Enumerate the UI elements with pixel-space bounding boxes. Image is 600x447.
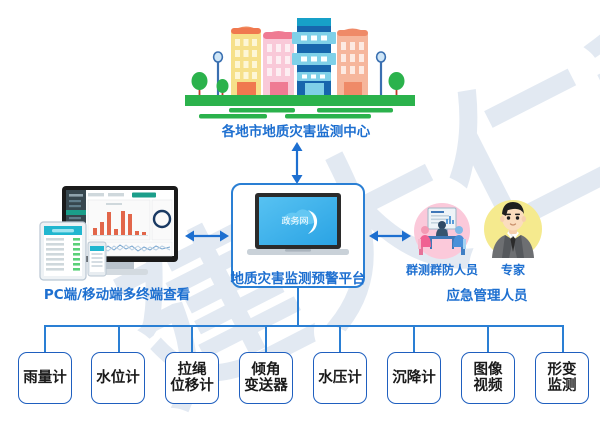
arrow-terminals-platform (185, 229, 229, 243)
monitor-tablet-phone-icon (40, 186, 185, 281)
device-box-1[interactable]: 雨量计 (18, 352, 72, 404)
device-box-4[interactable]: 倾角 变送器 (239, 352, 293, 404)
device-box-2[interactable]: 水位计 (91, 352, 145, 404)
device-box-7[interactable]: 图像 视频 (461, 352, 515, 404)
connector-drop-2 (118, 325, 120, 352)
arrow-city-platform (290, 142, 304, 184)
connector-drop-3 (191, 325, 193, 352)
connector-drop-1 (44, 325, 46, 352)
connector-drop-6 (413, 325, 415, 352)
device-box-8[interactable]: 形变 监测 (535, 352, 589, 404)
device-box-6[interactable]: 沉降计 (387, 352, 441, 404)
connector-drop-7 (487, 325, 489, 352)
expert-person-icon (484, 200, 542, 258)
device-box-5[interactable]: 水压计 (313, 352, 367, 404)
city-center-label: 各地市地质灾害监测中心 (222, 120, 371, 140)
connector-drop-8 (562, 325, 564, 352)
laptop-icon: 政务网 (247, 193, 349, 261)
connector-drop-5 (339, 325, 341, 352)
diagram-canvas: 建大仁科 (0, 0, 600, 420)
expert-label: 专家 (501, 261, 525, 278)
arrow-platform-people (369, 229, 411, 243)
platform-label: 地质灾害监测预警平台 (231, 267, 366, 287)
device-box-3[interactable]: 拉绳 位移计 (165, 352, 219, 404)
connector-platform-stem (297, 288, 299, 326)
city-skyline-icon (185, 12, 415, 117)
emergency-label: 应急管理人员 (447, 284, 528, 304)
crowd-label: 群测群防人员 (406, 261, 478, 278)
terminals-label: PC端/移动端多终端查看 (44, 283, 190, 303)
meeting-people-icon (414, 203, 470, 259)
connector-bus (44, 325, 564, 327)
laptop-screen-text: 政务网 (281, 215, 308, 227)
connector-drop-4 (265, 325, 267, 352)
